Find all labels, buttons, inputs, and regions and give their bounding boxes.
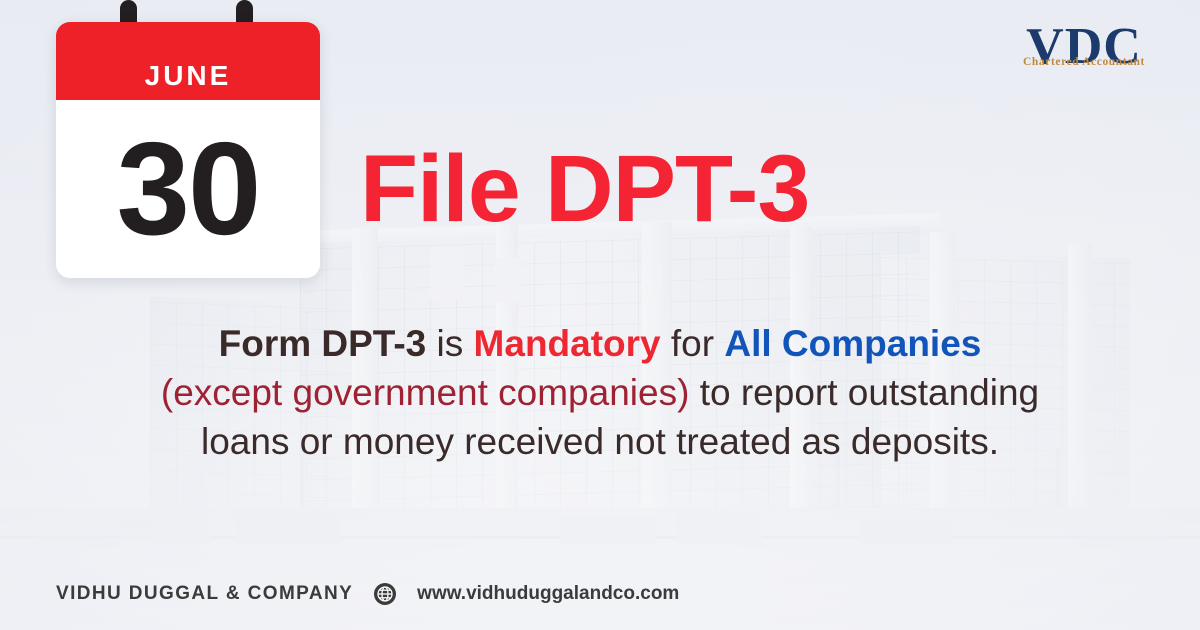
poster-canvas: VDC Chartered Accountant JUNE 30 File DP… bbox=[0, 0, 1200, 630]
body-line-1: Form DPT-3 is Mandatory for All Companie… bbox=[0, 320, 1200, 369]
calendar-body: 30 bbox=[56, 100, 320, 278]
body-segment-form-dpt3: Form DPT-3 bbox=[219, 323, 427, 364]
company-logo: VDC Chartered Accountant bbox=[1016, 18, 1152, 94]
headline-title: File DPT-3 bbox=[360, 140, 809, 240]
body-segment-report: to report outstanding bbox=[689, 372, 1039, 413]
calendar-header: JUNE bbox=[56, 22, 320, 100]
body-segment-is: is bbox=[426, 323, 473, 364]
footer-website-url: www.vidhuduggalandco.com bbox=[417, 583, 679, 605]
body-line-3: loans or money received not treated as d… bbox=[0, 418, 1200, 467]
footer-company-name: VIDHU DUGGAL & COMPANY bbox=[56, 583, 353, 605]
body-segment-loans: loans or money received not treated as d… bbox=[201, 421, 999, 462]
globe-icon bbox=[373, 582, 397, 606]
calendar-graphic: JUNE 30 bbox=[56, 22, 320, 278]
calendar-card: JUNE 30 bbox=[56, 22, 320, 278]
body-line-2: (except government companies) to report … bbox=[0, 369, 1200, 418]
body-segment-mandatory: Mandatory bbox=[474, 323, 661, 364]
calendar-month-label: JUNE bbox=[145, 60, 232, 92]
body-segment-all-companies: All Companies bbox=[724, 323, 981, 364]
logo-tagline: Chartered Accountant bbox=[1016, 56, 1152, 68]
footer-bar: VIDHU DUGGAL & COMPANY www.vidhuduggalan… bbox=[56, 582, 679, 606]
body-segment-for: for bbox=[661, 323, 725, 364]
calendar-day-number: 30 bbox=[117, 123, 260, 255]
body-copy: Form DPT-3 is Mandatory for All Companie… bbox=[0, 320, 1200, 466]
body-segment-exception: (except government companies) bbox=[161, 372, 690, 413]
